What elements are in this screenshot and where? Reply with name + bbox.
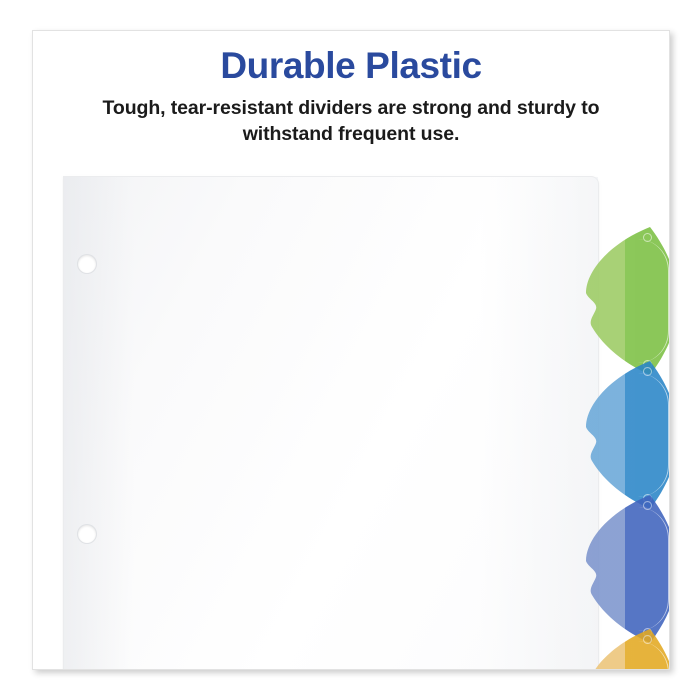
tab-indigo-tip-bottom [643,628,652,637]
headline-block: Durable Plastic Tough, tear-resistant di… [33,45,669,147]
divider-sheet [63,176,599,670]
tab-green-tip-top [643,233,652,242]
tab-green-tip-bottom [643,360,652,369]
tab-indigo-tip-top [643,501,652,510]
tab-orange-tip-top [643,635,652,644]
tab-green-gloss [638,239,669,363]
sheet-sheen [64,177,598,670]
product-image-canvas: Durable Plastic Tough, tear-resistant di… [0,0,700,700]
tab-orange-gloss [638,641,669,670]
subtitle-text: Tough, tear-resistant dividers are stron… [66,96,636,147]
product-feature-card: Durable Plastic Tough, tear-resistant di… [32,30,670,670]
punch-hole-top [78,255,96,273]
tab-indigo-gloss [638,507,669,631]
tab-blue-tip-bottom [643,494,652,503]
page-title: Durable Plastic [33,45,669,86]
punch-hole-bottom [78,525,96,543]
tab-blue-gloss [638,373,669,497]
tab-blue-tip-top [643,367,652,376]
